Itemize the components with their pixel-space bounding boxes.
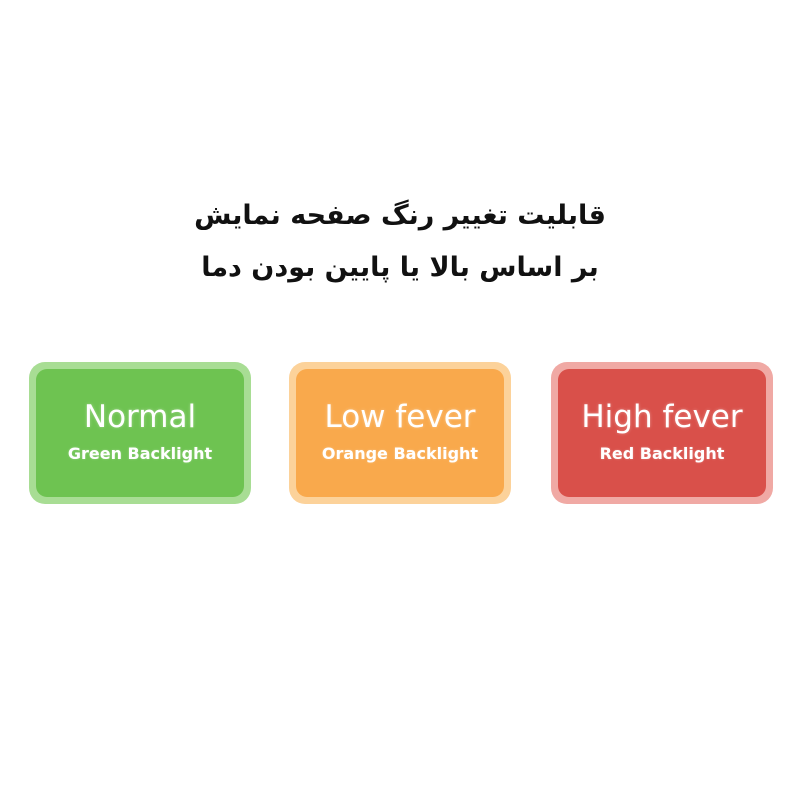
backlight-card-high-fever[interactable]: High fever Red Backlight <box>551 362 773 504</box>
card-labels: Normal Green Backlight <box>29 398 251 465</box>
heading-line-1: قابلیت تغییر رنگ صفحه نمایش <box>0 190 800 242</box>
card-title: Low fever <box>324 398 475 436</box>
backlight-card-normal[interactable]: Normal Green Backlight <box>29 362 251 504</box>
card-labels: High fever Red Backlight <box>551 398 773 465</box>
heading-line-2: بر اساس بالا یا پایین بودن دما <box>0 242 800 294</box>
card-title: High fever <box>581 398 742 436</box>
backlight-card-low-fever[interactable]: Low fever Orange Backlight <box>289 362 511 504</box>
page-title: قابلیت تغییر رنگ صفحه نمایش بر اساس بالا… <box>0 190 800 294</box>
card-subtitle: Green Backlight <box>68 443 212 465</box>
backlight-state-card-row: Normal Green Backlight Low fever Orange … <box>0 362 800 512</box>
card-subtitle: Red Backlight <box>600 443 725 465</box>
card-labels: Low fever Orange Backlight <box>289 398 511 465</box>
card-subtitle: Orange Backlight <box>322 443 478 465</box>
card-title: Normal <box>84 398 196 436</box>
page-root: قابلیت تغییر رنگ صفحه نمایش بر اساس بالا… <box>0 0 800 800</box>
